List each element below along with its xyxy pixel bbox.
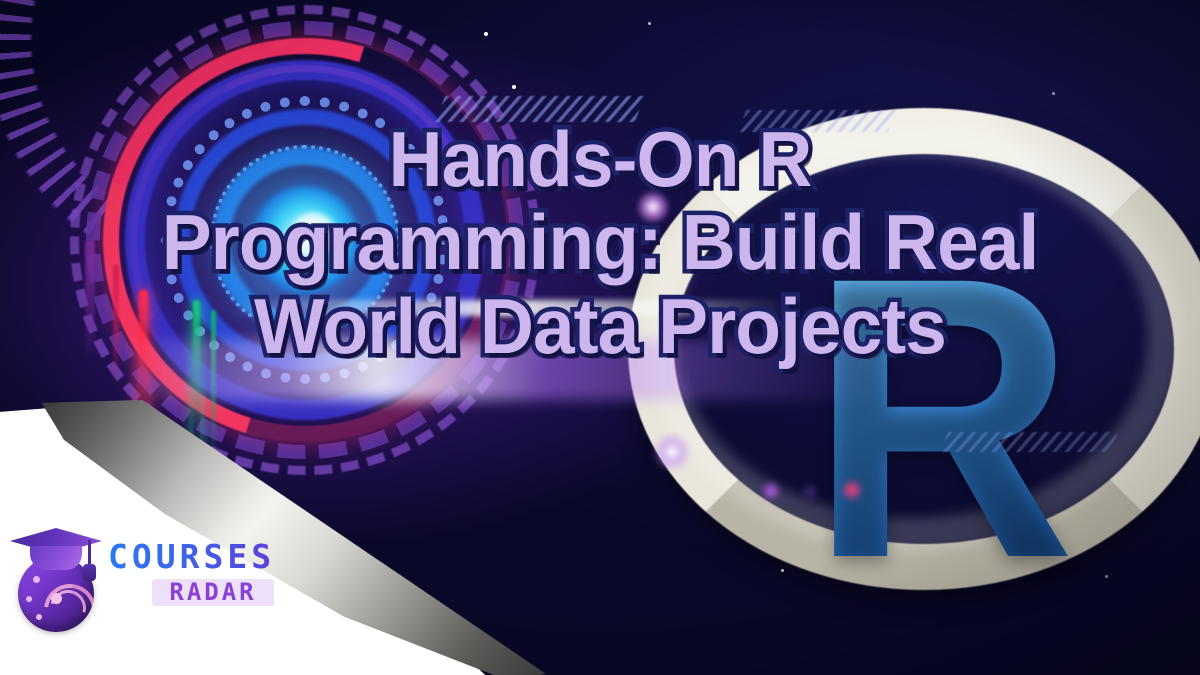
page-title: Hands-On R Programming: Build Real World… xyxy=(24,118,1176,368)
graduation-cap-radar-icon xyxy=(10,526,102,636)
tassel-knot xyxy=(83,564,96,581)
title-line-3: World Data Projects xyxy=(24,285,1176,368)
brand-logo[interactable]: COURSES RADAR xyxy=(8,522,278,642)
brand-name-primary: COURSES xyxy=(108,540,278,573)
radar-blip xyxy=(26,596,32,602)
title-line-1: Hands-On R xyxy=(24,118,1176,201)
brand-wordmark: COURSES RADAR xyxy=(108,540,278,606)
tassel-cord xyxy=(88,540,91,566)
mortarboard-base xyxy=(30,546,82,570)
title-line-2: Programming: Build Real xyxy=(24,201,1176,284)
radar-hub xyxy=(51,593,62,604)
radar-blip xyxy=(33,576,40,583)
course-thumbnail-card: R Hands-On R Programming: Build Real Wor… xyxy=(0,0,1200,675)
radar-blip xyxy=(36,614,42,620)
brand-name-secondary-band: RADAR xyxy=(152,579,274,606)
brand-name-secondary: RADAR xyxy=(152,580,274,604)
